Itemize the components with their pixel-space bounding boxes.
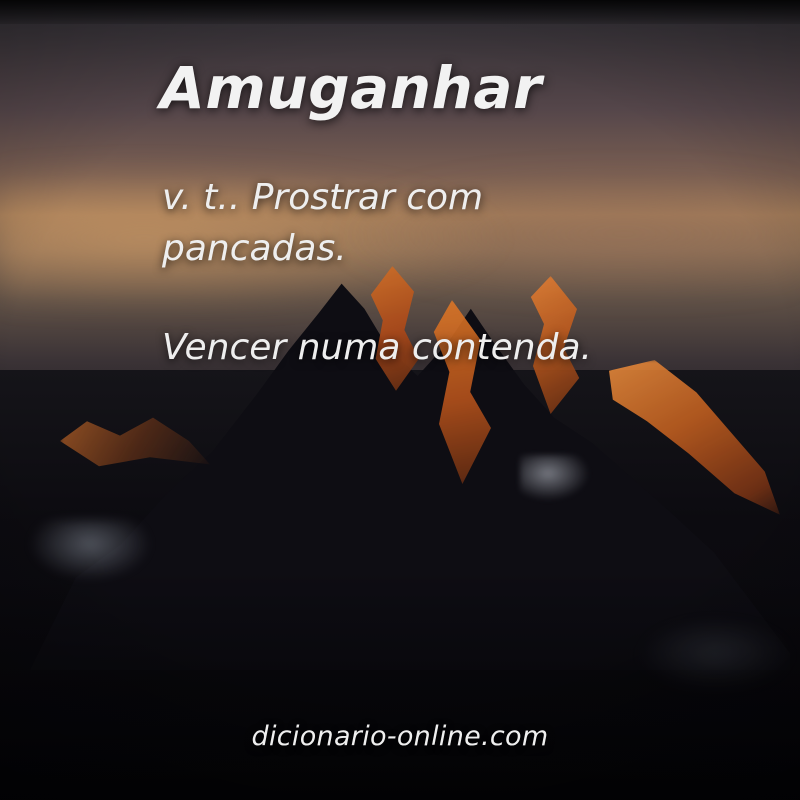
definition-item: v. t.. Prostrar com pancadas.	[162, 172, 632, 274]
text-overlay: Amuganhar v. t.. Prostrar com pancadas. …	[0, 0, 800, 800]
dictionary-image-card: Amuganhar v. t.. Prostrar com pancadas. …	[0, 0, 800, 800]
site-watermark: dicionario-online.com	[0, 721, 800, 752]
headword: Amuganhar	[160, 58, 542, 119]
definition-list: v. t.. Prostrar com pancadas. Vencer num…	[162, 172, 632, 373]
definition-item: Vencer numa contenda.	[162, 322, 632, 373]
